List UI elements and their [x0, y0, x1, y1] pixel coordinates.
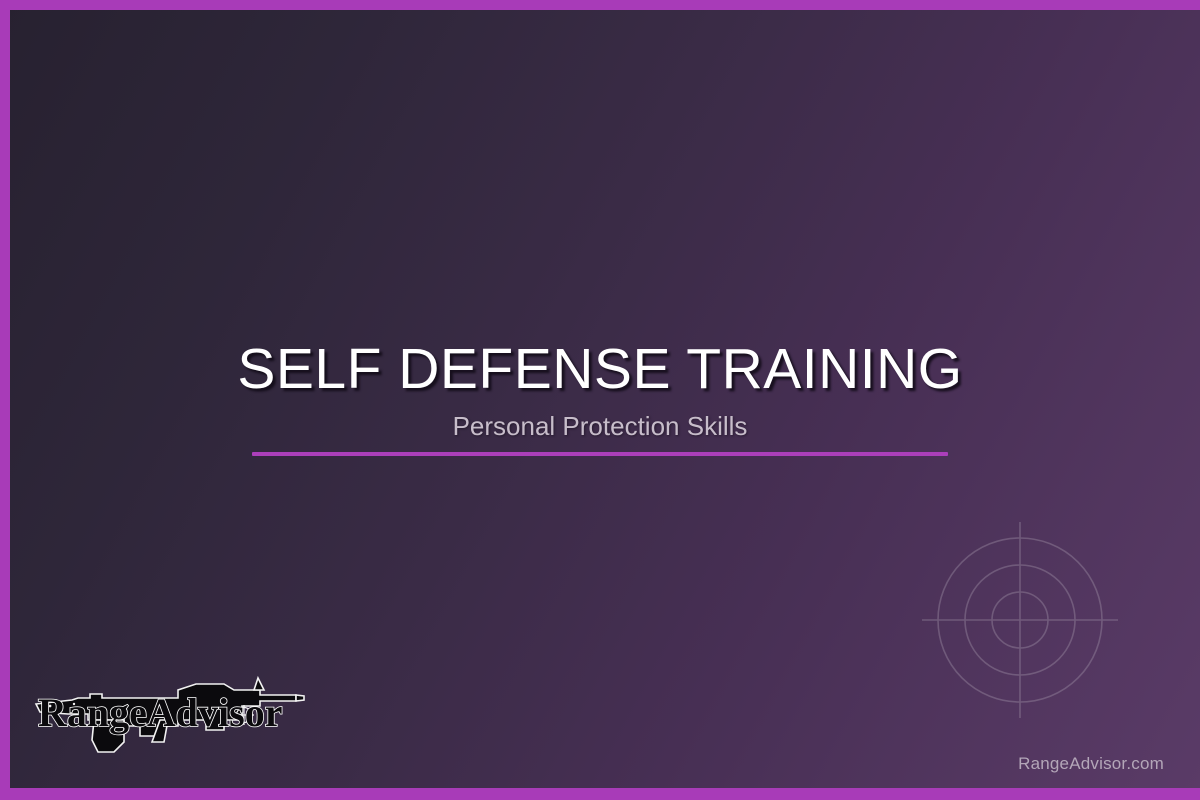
- slide-subtitle: Personal Protection Skills: [0, 411, 1200, 442]
- logo-wordmark: RangeAdvisor: [38, 690, 282, 735]
- title-divider: [252, 452, 948, 456]
- rangeadvisor-logo: RangeAdvisor: [28, 668, 306, 756]
- accent-band-bottom: [0, 788, 1200, 800]
- accent-band-top: [0, 0, 1200, 10]
- title-slide: SELF DEFENSE TRAINING Personal Protectio…: [0, 0, 1200, 800]
- slide-title: SELF DEFENSE TRAINING: [0, 336, 1200, 402]
- accent-band-left: [0, 0, 10, 800]
- footer-url: RangeAdvisor.com: [1018, 754, 1164, 774]
